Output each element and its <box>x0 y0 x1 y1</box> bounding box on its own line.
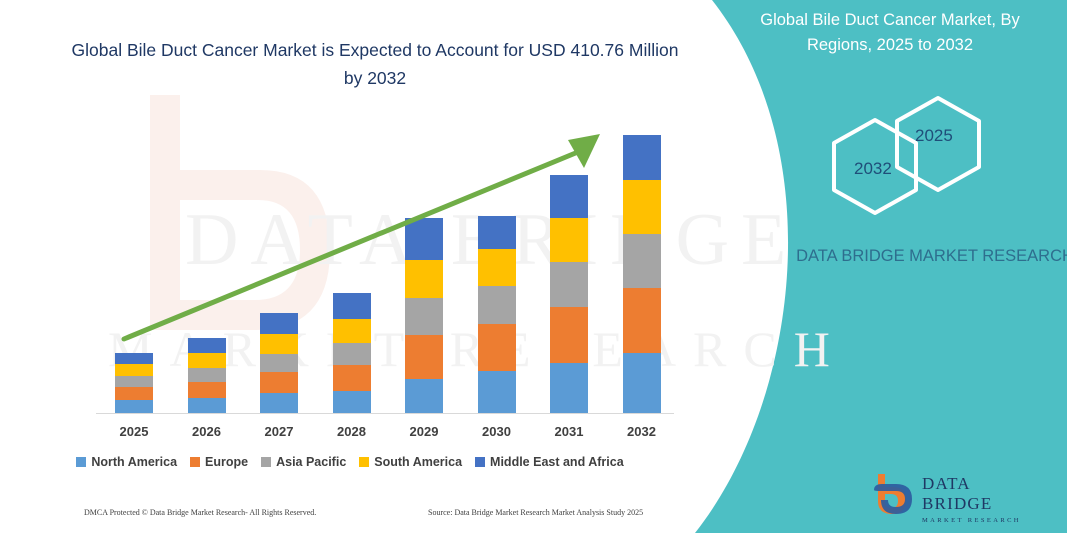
bar-2031 <box>550 175 588 413</box>
bar-2026 <box>188 338 226 413</box>
bar-segment <box>333 343 371 365</box>
bar-segment <box>550 307 588 363</box>
logo-name: DATA BRIDGE <box>922 474 1042 514</box>
stacked-bar-chart: 20252026202720282029203020312032 North A… <box>0 0 700 480</box>
chart-baseline <box>96 413 674 414</box>
legend-swatch-icon <box>261 457 271 467</box>
bar-segment <box>260 354 298 372</box>
legend-swatch-icon <box>76 457 86 467</box>
hexagon-2032-label: 2032 <box>854 159 892 179</box>
legend-item-asia-pacific[interactable]: Asia Pacific <box>261 455 346 469</box>
legend-swatch-icon <box>359 457 369 467</box>
bar-segment <box>188 382 226 398</box>
bar-segment <box>260 313 298 334</box>
bar-segment <box>188 338 226 353</box>
x-tick-2028: 2028 <box>312 424 392 439</box>
infographic-canvas: Global Bile Duct Cancer Market, By Regio… <box>0 0 1067 533</box>
legend-item-europe[interactable]: Europe <box>190 455 248 469</box>
bar-segment <box>550 363 588 413</box>
legend-label: Asia Pacific <box>276 455 346 469</box>
bar-segment <box>405 379 443 413</box>
panel-brand-text: DATA BRIDGE MARKET RESEARCH <box>790 244 1067 268</box>
bar-segment <box>333 365 371 391</box>
bar-segment <box>188 398 226 413</box>
footer-copyright: DMCA Protected © Data Bridge Market Rese… <box>84 508 316 517</box>
bar-segment <box>550 262 588 307</box>
bar-segment <box>478 286 516 324</box>
legend-item-south-america[interactable]: South America <box>359 455 462 469</box>
databridge-logo-mark <box>872 472 918 516</box>
x-tick-2027: 2027 <box>239 424 319 439</box>
bar-segment <box>623 353 661 413</box>
bar-segment <box>405 260 443 298</box>
bar-segment <box>115 364 153 376</box>
logo-text-block: DATA BRIDGE MARKET RESEARCH <box>922 474 1042 524</box>
legend-label: South America <box>374 455 462 469</box>
bar-segment <box>550 175 588 218</box>
x-tick-2029: 2029 <box>384 424 464 439</box>
legend-swatch-icon <box>475 457 485 467</box>
bar-segment <box>623 288 661 353</box>
hexagon-badges: 2025 2032 <box>820 95 1020 215</box>
bar-2028 <box>333 293 371 413</box>
legend-label: North America <box>91 455 177 469</box>
bar-2027 <box>260 313 298 413</box>
bar-2029 <box>405 218 443 413</box>
legend-label: Middle East and Africa <box>490 455 624 469</box>
bar-segment <box>115 376 153 387</box>
legend-swatch-icon <box>190 457 200 467</box>
bar-segment <box>260 334 298 354</box>
bar-segment <box>260 393 298 413</box>
bar-segment <box>115 353 153 364</box>
bar-segment <box>333 293 371 319</box>
x-tick-2026: 2026 <box>167 424 247 439</box>
bar-segment <box>623 234 661 288</box>
legend-item-middle-east-and-africa[interactable]: Middle East and Africa <box>475 455 624 469</box>
bar-segment <box>405 298 443 335</box>
bar-segment <box>333 391 371 413</box>
logo-subtitle: MARKET RESEARCH <box>922 517 1042 524</box>
bar-segment <box>478 324 516 371</box>
bar-segment <box>115 400 153 413</box>
legend-item-north-america[interactable]: North America <box>76 455 177 469</box>
bar-segment <box>188 368 226 382</box>
bar-segment <box>550 218 588 262</box>
bar-2030 <box>478 216 516 413</box>
bar-segment <box>478 216 516 249</box>
x-tick-2030: 2030 <box>457 424 537 439</box>
bar-segment <box>405 218 443 260</box>
bar-segment <box>478 371 516 413</box>
panel-title: Global Bile Duct Cancer Market, By Regio… <box>735 8 1045 58</box>
hexagon-2025-label: 2025 <box>915 126 953 146</box>
x-tick-2025: 2025 <box>94 424 174 439</box>
bar-segment <box>623 180 661 234</box>
bar-segment <box>115 387 153 400</box>
x-tick-2032: 2032 <box>602 424 682 439</box>
bar-segment <box>623 135 661 180</box>
bar-segment <box>188 353 226 368</box>
footer-source: Source: Data Bridge Market Research Mark… <box>428 508 643 517</box>
bar-segment <box>333 319 371 343</box>
legend-label: Europe <box>205 455 248 469</box>
bar-2032 <box>623 135 661 413</box>
x-tick-2031: 2031 <box>529 424 609 439</box>
bar-segment <box>405 335 443 379</box>
databridge-logo: DATA BRIDGE MARKET RESEARCH <box>872 472 1042 518</box>
bar-segment <box>260 372 298 393</box>
bar-2025 <box>115 353 153 413</box>
bar-segment <box>478 249 516 286</box>
chart-legend: North AmericaEuropeAsia PacificSouth Ame… <box>0 455 700 469</box>
